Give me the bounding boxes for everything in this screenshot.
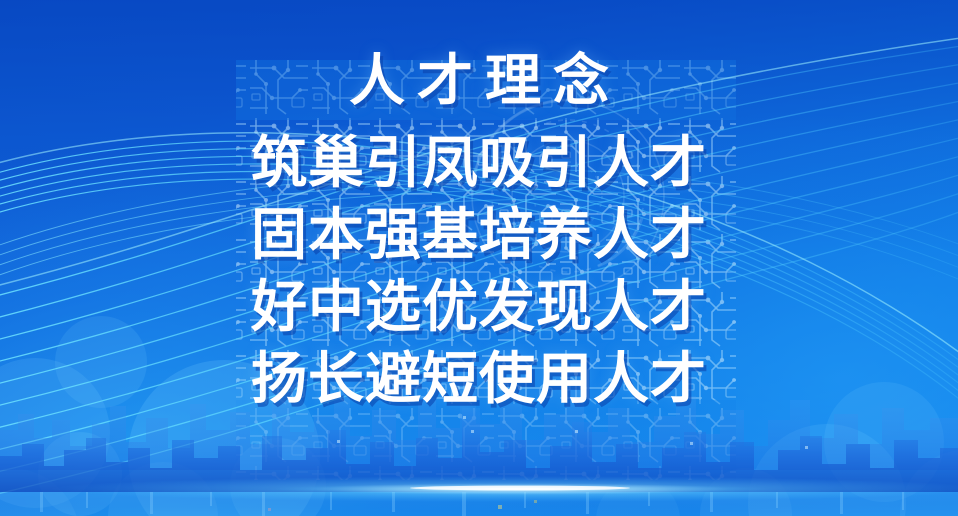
text-block: 人才理念 筑巢引凤吸引人才 固本强基培养人才 好中选优发现人才 扬长避短使用人才	[0, 0, 958, 516]
slogan-line-4: 扬长避短使用人才	[251, 351, 707, 407]
bokeh-circle	[55, 316, 147, 408]
lower-left-glow	[0, 150, 640, 516]
bokeh-circle	[108, 462, 218, 516]
circuit-pattern-layer	[0, 0, 958, 516]
page-title: 人才理念	[337, 52, 621, 111]
slogan-line-3: 好中选优发现人才	[251, 279, 707, 335]
bokeh-circle	[824, 382, 944, 502]
bokeh-circle	[900, 450, 958, 516]
slogan-line-1: 筑巢引凤吸引人才	[251, 135, 707, 191]
top-gradient-overlay	[0, 0, 958, 250]
slogan-list: 筑巢引凤吸引人才 固本强基培养人才 好中选优发现人才 扬长避短使用人才	[251, 135, 707, 407]
bokeh-circle	[128, 360, 320, 516]
bokeh-circle	[0, 468, 80, 516]
slogan-line-2: 固本强基培养人才	[251, 207, 707, 263]
bokeh-circle	[0, 358, 110, 508]
flowing-lines-layer	[0, 0, 958, 516]
right-glow	[458, 120, 958, 516]
bokeh-circle	[700, 468, 792, 516]
poster-canvas: 人才理念 筑巢引凤吸引人才 固本强基培养人才 好中选优发现人才 扬长避短使用人才	[0, 0, 958, 516]
bokeh-circle	[38, 432, 122, 516]
skyline-layer	[0, 0, 958, 516]
bokeh-circle	[230, 438, 326, 516]
bokeh-circle	[596, 478, 680, 516]
bokeh-circle	[748, 424, 906, 516]
